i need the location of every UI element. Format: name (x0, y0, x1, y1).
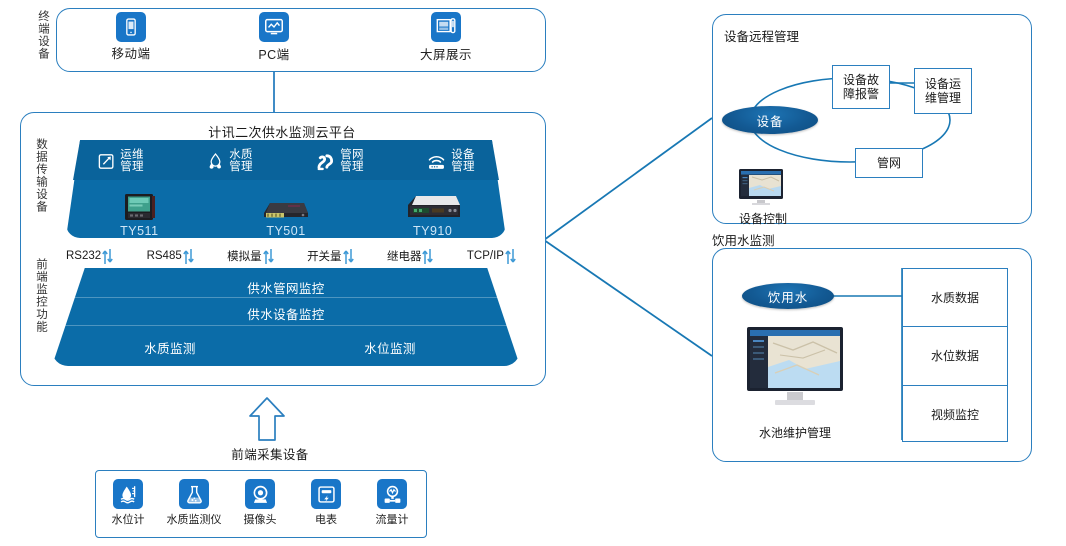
data-item-video-monitoring[interactable]: 视频监控 (903, 385, 1007, 443)
node-fault-alarm[interactable]: 设备故 障报警 (832, 65, 890, 109)
device-ty910[interactable]: TY910 (378, 189, 488, 238)
bidirectional-arrow-icon (505, 248, 516, 265)
desktop-monitor-icon (259, 12, 289, 42)
sensor-row: 水位计 水质监测仪 (95, 470, 425, 536)
device-name: TY511 (84, 224, 194, 238)
band-water-quality-monitoring: 水质监测 (70, 338, 270, 357)
node-ops-management[interactable]: 设备运 维管理 (914, 68, 972, 114)
terminal-item-pc[interactable]: PC端 (237, 12, 311, 63)
bidirectional-arrow-icon (422, 248, 433, 265)
remote-monitor-caption: 设备控制 (718, 210, 808, 227)
protocol-relay: 继电器 (387, 248, 434, 265)
mobile-phone-icon (116, 12, 146, 42)
data-item-water-level[interactable]: 水位数据 (903, 326, 1007, 384)
bidirectional-arrow-icon (183, 248, 194, 265)
node-label-line1: 设备运 (925, 77, 961, 91)
up-arrow-icon (247, 396, 287, 447)
pipe-network-icon (315, 151, 336, 172)
protocol-label: TCP/IP (467, 250, 504, 262)
protocol-rs232: RS232 (66, 248, 113, 265)
terminal-item-mobile[interactable]: 移动端 (94, 12, 168, 62)
platform-side-label-upper: 数据传输设备 (34, 138, 47, 224)
protocol-label: 开关量 (307, 248, 342, 264)
water-drop-icon (206, 152, 225, 171)
protocol-label: 继电器 (387, 248, 422, 264)
map-monitor-icon (745, 325, 845, 418)
collection-caption: 前端采集设备 (160, 444, 380, 463)
module-label-line1: 管网 (340, 149, 364, 161)
water-level-gauge-icon (113, 479, 143, 509)
module-pipe-network[interactable]: 管网 管理 (315, 149, 364, 174)
protocol-tcpip: TCP/IP (467, 248, 516, 265)
electric-meter-icon (311, 479, 341, 509)
device-hub-label: 设备 (756, 111, 783, 130)
sensor-label: 流量计 (361, 511, 423, 527)
protocol-digital: 开关量 (307, 248, 354, 265)
band-pipe-monitoring: 供水管网监控 (52, 278, 520, 297)
module-ops-maintenance[interactable]: 运维 管理 (97, 149, 144, 174)
terminal-item-label: 移动端 (94, 43, 168, 62)
flow-meter-icon (377, 479, 407, 509)
drinking-section-label: 饮用水监测 (712, 230, 775, 249)
module-water-quality[interactable]: 水质 管理 (206, 149, 253, 174)
sensor-label: 摄像头 (229, 511, 291, 527)
sensor-label: 电表 (295, 511, 357, 527)
module-label-line2: 管理 (451, 161, 475, 173)
band-water-level-monitoring: 水位监测 (290, 338, 490, 357)
protocol-label: RS232 (66, 250, 101, 262)
band-divider (68, 297, 504, 298)
bidirectional-arrow-icon (102, 248, 113, 265)
module-label-line1: 水质 (229, 149, 253, 161)
data-item-water-quality[interactable]: 水质数据 (903, 269, 1007, 326)
band-equipment-monitoring: 供水设备监控 (52, 304, 520, 323)
module-label-line1: 设备 (451, 149, 475, 161)
map-monitor-icon (738, 168, 784, 213)
protocol-label: 模拟量 (227, 248, 262, 264)
node-pipe-network[interactable]: 管网 (855, 148, 923, 178)
bidirectional-arrow-icon (343, 248, 354, 265)
transmission-device-row: TY511 TY501 (66, 182, 506, 238)
terminal-item-label: 大屏展示 (409, 44, 483, 63)
diagram-canvas: 终端设备 移动端 PC端 (0, 0, 1066, 546)
module-label-line2: 管理 (340, 161, 364, 173)
flask-water-quality-icon (179, 479, 209, 509)
sensor-flow-meter[interactable]: 流量计 (361, 479, 423, 527)
camera-icon (245, 479, 275, 509)
platform-side-label-lower: 前端监控功能 (34, 258, 47, 358)
terminal-item-label: PC端 (237, 44, 311, 63)
controller-device-icon (84, 189, 194, 223)
router-wifi-icon (426, 151, 447, 172)
node-label-line2: 障报警 (843, 87, 879, 101)
terminal-side-label: 终端设备 (36, 10, 49, 68)
node-label: 管网 (877, 156, 901, 170)
device-name: TY910 (378, 224, 488, 238)
device-ty501[interactable]: TY501 (231, 189, 341, 238)
protocol-label: RS485 (147, 250, 182, 262)
gateway-device-icon (378, 189, 488, 223)
platform-title: 计讯二次供水监测云平台 (20, 122, 544, 141)
module-label-line2: 管理 (120, 161, 144, 173)
platform-module-row: 运维 管理 水质 管理 (66, 142, 506, 180)
sensor-label: 水质监测仪 (163, 511, 225, 527)
sensor-water-level-gauge[interactable]: 水位计 (97, 479, 159, 527)
node-label-line2: 维管理 (925, 91, 961, 105)
sensor-electric-meter[interactable]: 电表 (295, 479, 357, 527)
sensor-camera[interactable]: 摄像头 (229, 479, 291, 527)
drinking-data-stack: 水质数据 水位数据 视频监控 (902, 268, 1008, 442)
device-ty511[interactable]: TY511 (84, 189, 194, 238)
terminal-item-bigscreen[interactable]: 大屏展示 (409, 12, 483, 63)
module-device-management[interactable]: 设备 管理 (426, 149, 475, 174)
module-label-line2: 管理 (229, 161, 253, 173)
band-divider (60, 325, 512, 326)
drinking-monitor-caption: 水池维护管理 (735, 424, 855, 441)
edit-square-icon (97, 152, 116, 171)
large-screen-display-icon (431, 12, 461, 42)
device-hub-oval: 设备 (722, 106, 818, 134)
sensor-water-quality-analyzer[interactable]: 水质监测仪 (163, 479, 225, 527)
module-label-line1: 运维 (120, 149, 144, 161)
remote-management-title: 设备远程管理 (724, 26, 799, 45)
sensor-label: 水位计 (97, 511, 159, 527)
bidirectional-arrow-icon (263, 248, 274, 265)
protocol-rs485: RS485 (147, 248, 194, 265)
protocol-row: RS232 RS485 模拟量 (66, 247, 516, 265)
node-label-line1: 设备故 (843, 73, 879, 87)
dtu-device-icon (231, 189, 341, 223)
protocol-analog: 模拟量 (227, 248, 274, 265)
device-name: TY501 (231, 224, 341, 238)
drinking-hub-oval: 饮用水 (742, 283, 834, 309)
drinking-hub-label: 饮用水 (768, 287, 809, 306)
